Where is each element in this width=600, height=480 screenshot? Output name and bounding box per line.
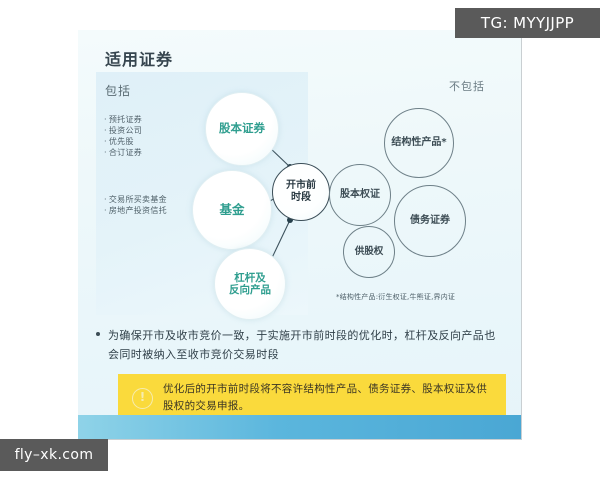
circle-label-line2: 时段 bbox=[291, 192, 311, 203]
circle-label: 杠杆及 反向产品 bbox=[229, 272, 271, 297]
note-block: 为确保开市及收市竞价一致，于实施开市前时段的优化时，杠杆及反向产品也会同时被纳入… bbox=[96, 326, 506, 364]
exclude-label: 不包括 bbox=[449, 78, 485, 94]
callout-text: 优化后的开市前时段将不容许结构性产品、债务证券、股本权证及供股权的交易申报。 bbox=[163, 381, 496, 415]
circle-label-line2: 反向产品 bbox=[229, 284, 271, 296]
include-label: 包括 bbox=[105, 82, 131, 99]
site-watermark: fly–xk.com bbox=[0, 439, 108, 471]
circle-label: 股本权证 bbox=[340, 189, 380, 201]
circle-label: 基金 bbox=[219, 203, 244, 218]
circle-label: 债务证券 bbox=[410, 215, 450, 227]
circle-debt-securities: 债务证券 bbox=[394, 185, 466, 257]
footnote: *结构性产品:衍生权证,牛熊证,界内证 bbox=[336, 292, 455, 302]
circle-leveraged-inverse-products: 杠杆及 反向产品 bbox=[214, 248, 286, 320]
infographic-card: 适用证券 包括 不包括 预托证券 投资公司 优先股 合订证券 交易所买卖基金 房… bbox=[78, 30, 522, 440]
circle-label-line1: 杠杆及 bbox=[234, 272, 266, 284]
card-bottom-bar bbox=[78, 415, 521, 439]
screenshot-root: 适用证券 包括 不包括 预托证券 投资公司 优先股 合订证券 交易所买卖基金 房… bbox=[0, 0, 600, 480]
circle-label: 股本证券 bbox=[219, 122, 265, 136]
circle-pre-opening-session: 开市前 时段 bbox=[272, 163, 330, 221]
include-list-funds: 交易所买卖基金 房地产投资信托 bbox=[104, 194, 167, 216]
list-item: 投资公司 bbox=[104, 125, 142, 136]
circle-label: 供股权 bbox=[355, 246, 384, 257]
note-text: 为确保开市及收市竞价一致，于实施开市前时段的优化时，杠杆及反向产品也会同时被纳入… bbox=[108, 326, 506, 364]
list-item: 优先股 bbox=[104, 136, 142, 147]
circle-rights-issue: 供股权 bbox=[343, 226, 395, 278]
circle-label-line1: 开市前 bbox=[286, 180, 316, 191]
exclamation-circle-icon: ! bbox=[132, 388, 153, 409]
circle-structured-products: 结构性产品* bbox=[384, 108, 454, 178]
include-list-securities: 预托证券 投资公司 优先股 合订证券 bbox=[104, 114, 142, 158]
circle-label: 开市前 时段 bbox=[286, 180, 316, 204]
list-item: 交易所买卖基金 bbox=[104, 194, 167, 205]
list-item: 房地产投资信托 bbox=[104, 205, 167, 216]
list-item: 预托证券 bbox=[104, 114, 142, 125]
circle-equity-warrants: 股本权证 bbox=[329, 164, 391, 226]
circle-equity-securities: 股本证券 bbox=[205, 92, 279, 166]
circle-label: 结构性产品* bbox=[391, 137, 446, 149]
bullet-dot-icon bbox=[96, 332, 100, 336]
page-title: 适用证券 bbox=[105, 46, 173, 70]
list-item: 合订证券 bbox=[104, 147, 142, 158]
circle-funds: 基金 bbox=[192, 170, 272, 250]
tg-handle-badge: TG: MYYJJPP bbox=[455, 8, 600, 38]
